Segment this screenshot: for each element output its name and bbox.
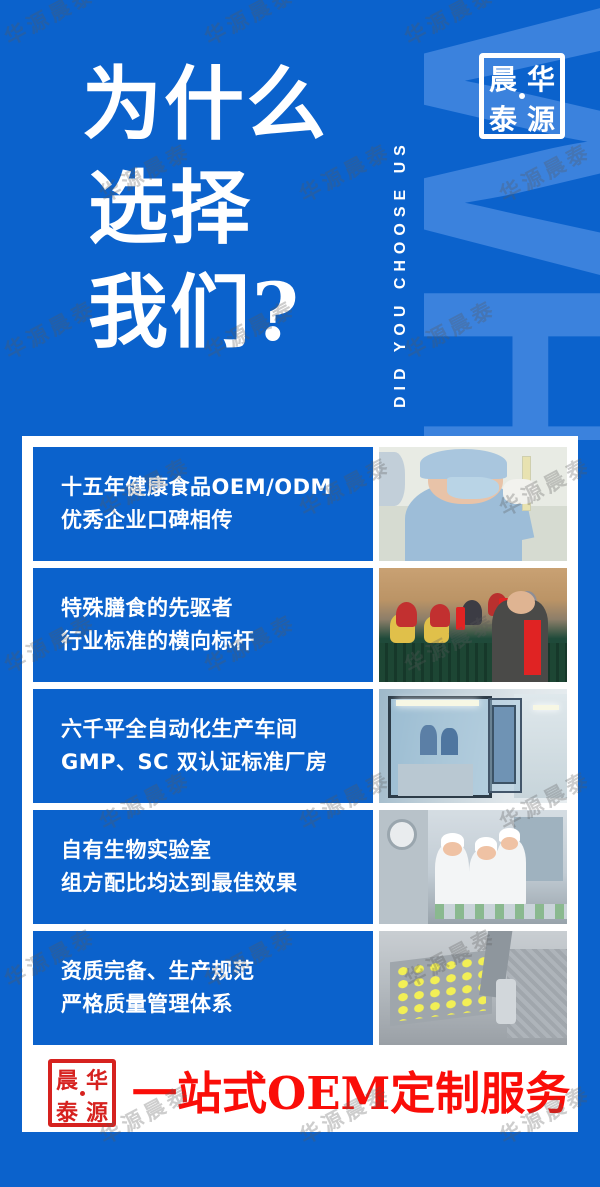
seal-char-hua: 华: [522, 58, 560, 98]
feature-row: 十五年健康食品OEM/ODM 优秀企业口碑相传: [33, 447, 567, 561]
features-list: 十五年健康食品OEM/ODM 优秀企业口碑相传 特殊膳食的先驱者 行业标准的横向…: [33, 447, 567, 1045]
feature-row: 自有生物实验室 组方配比均达到最佳效果: [33, 810, 567, 924]
page-title-line-2: 选择: [88, 156, 382, 260]
feature-photo-1: [379, 447, 567, 561]
feature-3-line-1: 六千平全自动化生产车间: [61, 713, 373, 746]
feature-4-line-1: 自有生物实验室: [61, 834, 373, 867]
seal-char-chen: 晨: [484, 58, 522, 98]
feature-card-5[interactable]: 资质完备、生产规范 严格质量管理体系: [33, 931, 373, 1045]
feature-photo-5: [379, 931, 567, 1045]
feature-card-2[interactable]: 特殊膳食的先驱者 行业标准的横向标杆: [33, 568, 373, 682]
vertical-tagline: DID YOU CHOOSE US: [392, 18, 410, 408]
feature-card-3[interactable]: 六千平全自动化生产车间 GMP、SC 双认证标准厂房: [33, 689, 373, 803]
poster-header: 为什么 选择 我们? DID YOU CHOOSE US 华 源 晨 泰: [0, 0, 600, 436]
features-panel: 十五年健康食品OEM/ODM 优秀企业口碑相传 特殊膳食的先驱者 行业标准的横向…: [22, 436, 578, 1132]
footer-seal-char-yuan: 源: [82, 1095, 112, 1127]
page-title-line-3: 我们?: [88, 260, 382, 364]
feature-photo-3: [379, 689, 567, 803]
feature-photo-2: [379, 568, 567, 682]
feature-card-4[interactable]: 自有生物实验室 组方配比均达到最佳效果: [33, 810, 373, 924]
feature-card-1[interactable]: 十五年健康食品OEM/ODM 优秀企业口碑相传: [33, 447, 373, 561]
feature-2-line-1: 特殊膳食的先驱者: [61, 592, 373, 625]
seal-char-yuan: 源: [522, 98, 560, 138]
brand-seal-logo: 华 源 晨 泰: [479, 53, 565, 139]
feature-2-line-2: 行业标准的横向标杆: [61, 625, 373, 658]
page-title: 为什么 选择 我们?: [82, 52, 382, 364]
poster-root: WHY 为什么 选择 我们? DID YOU CHOOSE US 华 源 晨 泰…: [0, 0, 600, 1187]
feature-4-line-2: 组方配比均达到最佳效果: [61, 867, 373, 900]
seal-center-dot: [519, 93, 525, 99]
footer-seal-logo: 华 源 晨 泰: [48, 1059, 116, 1127]
feature-row: 特殊膳食的先驱者 行业标准的横向标杆: [33, 568, 567, 682]
footer-seal-char-hua: 华: [82, 1063, 112, 1095]
feature-row: 六千平全自动化生产车间 GMP、SC 双认证标准厂房: [33, 689, 567, 803]
seal-char-tai: 泰: [484, 98, 522, 138]
page-title-line-1: 为什么: [82, 52, 382, 156]
footer-seal-char-tai: 泰: [52, 1095, 82, 1127]
footer-slogan: 一站式OEM定制服务: [132, 1071, 570, 1116]
feature-row: 资质完备、生产规范 严格质量管理体系: [33, 931, 567, 1045]
feature-1-line-1: 十五年健康食品OEM/ODM: [61, 471, 373, 504]
feature-5-line-2: 严格质量管理体系: [61, 988, 373, 1021]
footer-bar: 华 源 晨 泰 一站式OEM定制服务: [22, 1054, 578, 1132]
footer-seal-center-dot: [80, 1091, 85, 1096]
footer-seal-char-chen: 晨: [52, 1063, 82, 1095]
feature-photo-4: [379, 810, 567, 924]
feature-3-line-2: GMP、SC 双认证标准厂房: [61, 746, 373, 779]
feature-1-line-2: 优秀企业口碑相传: [61, 504, 373, 537]
feature-5-line-1: 资质完备、生产规范: [61, 955, 373, 988]
